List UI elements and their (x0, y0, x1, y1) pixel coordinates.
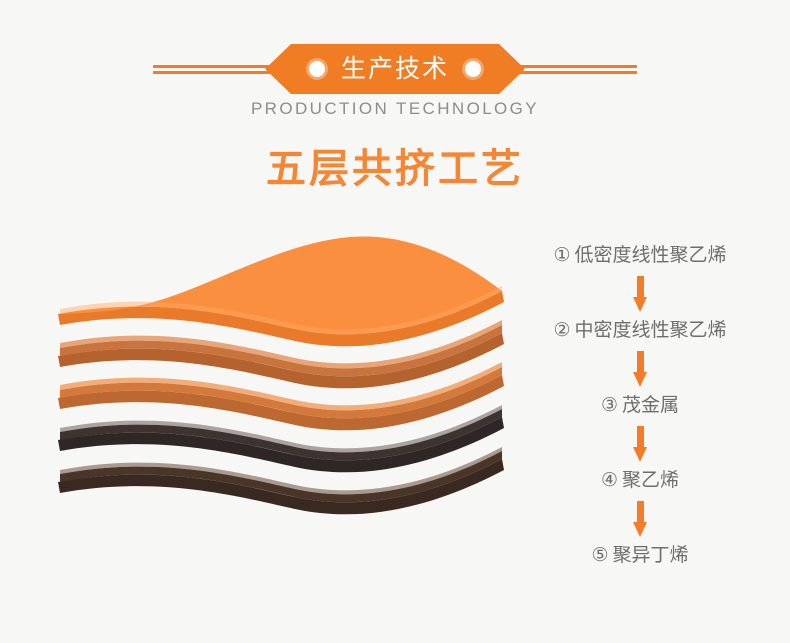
flow-label-3: 茂金属 (622, 395, 679, 416)
circle-dot-icon-left (309, 61, 325, 77)
flow-label-1: 低密度线性聚乙烯 (575, 245, 727, 266)
down-arrow-icon-1 (633, 276, 647, 312)
page-header: 生产技术 PRODUCTION TECHNOLOGY (0, 0, 790, 140)
flow-number-2: ② (553, 320, 570, 341)
banner-title: 生产技术 (341, 57, 449, 82)
banner-hexagon: 生产技术 (265, 44, 525, 94)
stack-layer-1 (58, 236, 504, 346)
flow-item-2: ②中密度线性聚乙烯 (505, 321, 775, 342)
banner-rule-left (153, 64, 273, 75)
process-flow-list: ①低密度线性聚乙烯 ②中密度线性聚乙烯 ③茂金属 ④聚乙烯 ⑤聚异丁烯 (505, 246, 775, 566)
flow-number-3: ③ (601, 395, 618, 416)
flow-label-4: 聚乙烯 (622, 470, 679, 491)
flow-number-5: ⑤ (591, 545, 608, 566)
flow-label-2: 中密度线性聚乙烯 (575, 320, 727, 341)
page-title: 五层共挤工艺 (0, 145, 790, 193)
flow-item-1: ①低密度线性聚乙烯 (505, 246, 775, 267)
flow-number-1: ① (553, 245, 570, 266)
flow-number-4: ④ (601, 470, 618, 491)
circle-dot-icon-right (465, 61, 481, 77)
banner-row: 生产技术 (0, 44, 790, 94)
flow-item-3: ③茂金属 (505, 396, 775, 417)
down-arrow-icon-2 (633, 351, 647, 387)
flow-item-4: ④聚乙烯 (505, 471, 775, 492)
header-subtitle: PRODUCTION TECHNOLOGY (0, 100, 790, 117)
flow-label-5: 聚异丁烯 (613, 545, 689, 566)
flow-item-5: ⑤聚异丁烯 (505, 546, 775, 567)
banner-rule-right (517, 64, 637, 75)
five-layer-stack-illustration (30, 225, 530, 555)
down-arrow-icon-3 (633, 426, 647, 462)
down-arrow-icon-4 (633, 501, 647, 537)
